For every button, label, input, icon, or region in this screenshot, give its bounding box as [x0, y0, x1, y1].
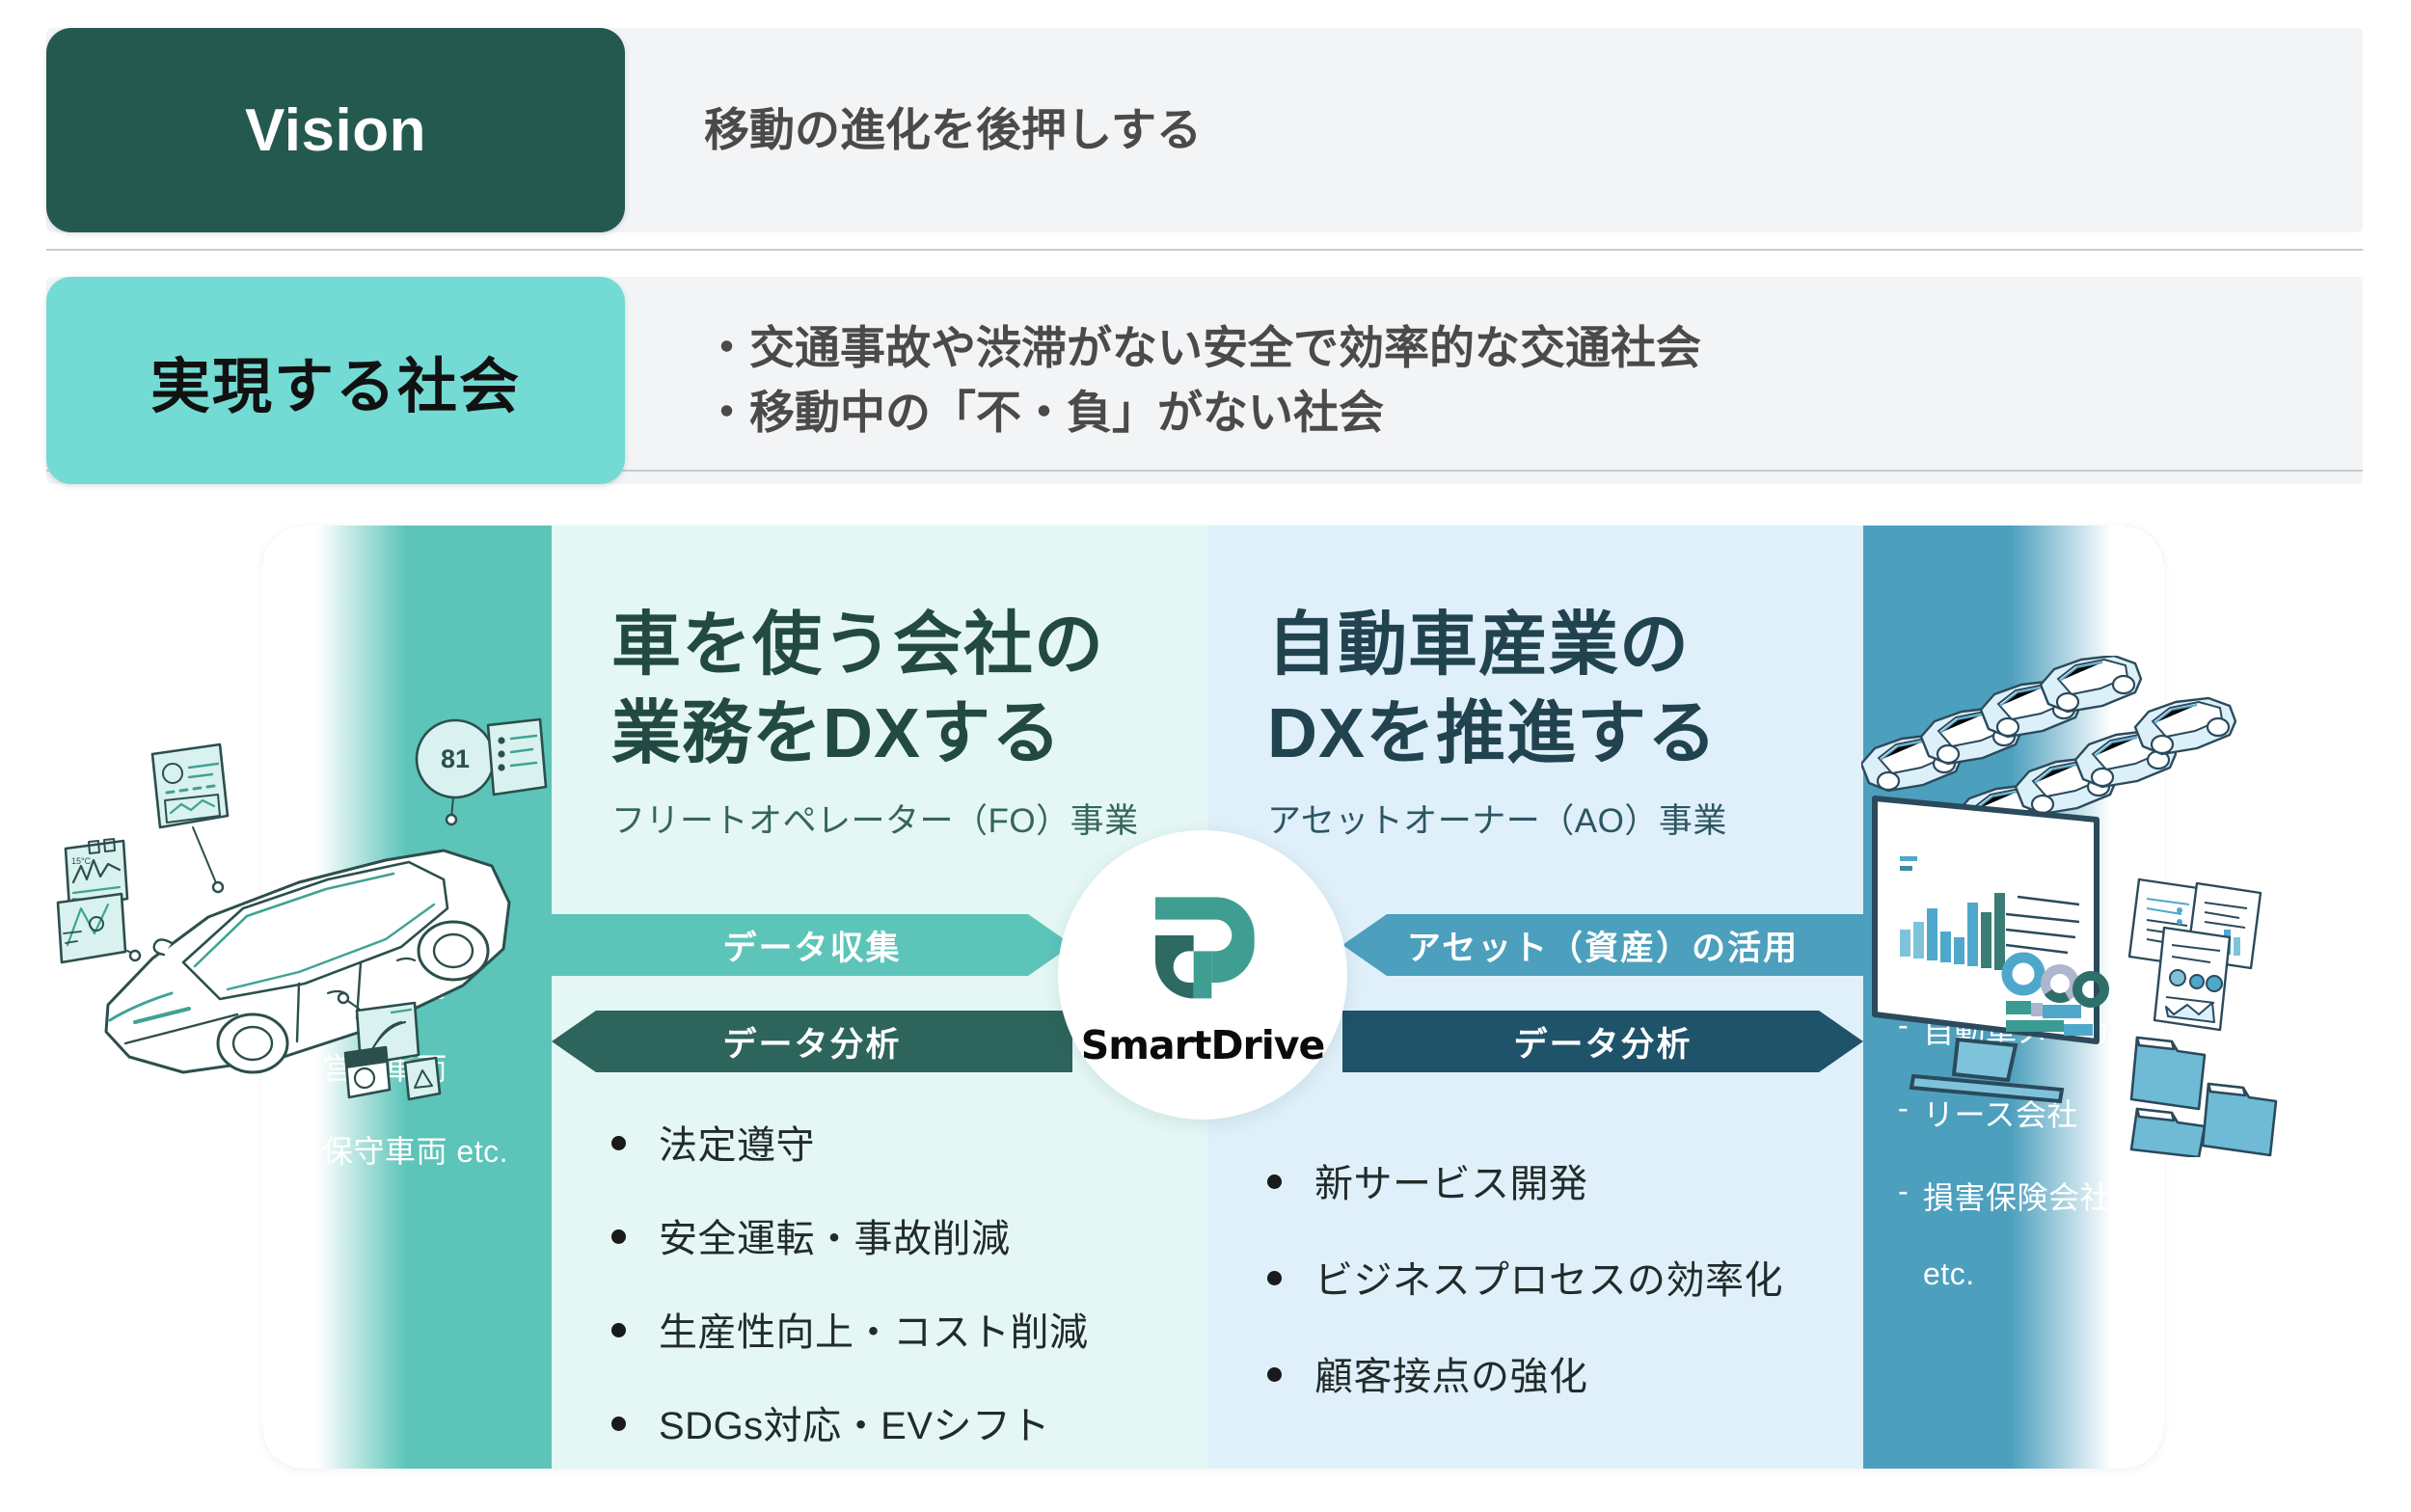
- dash-marker: -: [297, 961, 322, 1006]
- fo-customer-list: - 配送車両 - 営業車両 - 保守車両 etc.: [297, 961, 508, 1210]
- fo-customer-2: 保守車両 etc.: [322, 1127, 508, 1172]
- bullet-dot-icon: [1267, 1174, 1282, 1189]
- list-item: 新サービス開発: [1267, 1152, 1783, 1208]
- smartdrive-logo-icon: [1135, 881, 1270, 1016]
- dash-marker: -: [1898, 1091, 1923, 1135]
- svg-text:15°C: 15°C: [71, 856, 92, 866]
- smartdrive-wordmark: SmartDrive: [1081, 1022, 1325, 1068]
- ao-customer-etc: etc.: [1923, 1256, 1975, 1292]
- arrow-data-collection: データ収集: [552, 914, 1072, 976]
- vision-line-1: 移動の進化を後押しする: [704, 98, 1202, 163]
- fleet-operator-customers-column: - 配送車両 - 営業車両 - 保守車両 etc.: [262, 526, 552, 1469]
- bullet-dot-icon: [611, 1136, 626, 1150]
- ao-customer-2: 損害保険会社: [1923, 1174, 2111, 1218]
- vision-chip: Vision: [46, 28, 625, 232]
- ao-title-line-1: 自動車産業の: [1267, 607, 1690, 684]
- society-text-body: ・交通事故や渋滞がない安全で効率的な交通社会 ・移動中の「不・負」がない社会: [625, 277, 1701, 484]
- society-line-1: ・交通事故や渋滞がない安全で効率的な交通社会: [704, 316, 1701, 381]
- bullet-dot-icon: [611, 1229, 626, 1244]
- arrow-data-analysis-fo: データ分析: [552, 1011, 1072, 1072]
- header-divider-1: [46, 249, 2363, 251]
- ao-title: 自動車産業の DXを推進する: [1267, 601, 1863, 778]
- list-item: ビジネスプロセスの効率化: [1267, 1249, 1783, 1305]
- list-item: SDGs対応・EVシフト: [611, 1394, 1089, 1450]
- dash-marker: -: [297, 1127, 322, 1172]
- fo-customer-0: 配送車両: [322, 961, 447, 1006]
- list-item: 法定遵守: [611, 1114, 1089, 1170]
- arrow-data-analysis-ao-label: データ分析: [1342, 1017, 1863, 1066]
- fo-heading-block: 車を使う会社の 業務をDXする フリートオペレーター（FO）事業: [552, 526, 1207, 843]
- list-item: - リース会社: [1898, 1091, 2143, 1135]
- society-line-2: ・移動中の「不・負」がない社会: [704, 381, 1701, 445]
- fo-title-line-1: 車を使う会社の: [611, 607, 1104, 684]
- list-item: 生産性向上・コスト削減: [611, 1301, 1089, 1357]
- list-item: etc.: [1898, 1256, 2143, 1292]
- dash-marker: -: [1898, 1174, 1923, 1218]
- ao-bullet-0: 新サービス開発: [1314, 1152, 1588, 1208]
- fo-benefit-list: 法定遵守 安全運転・事故削減 生産性向上・コスト削減 SDGs対応・EVシフト: [611, 1114, 1089, 1469]
- ao-title-line-2: DXを推進する: [1267, 695, 1718, 772]
- ao-customer-0: 自動車メーカー: [1923, 1008, 2143, 1052]
- fo-customer-1: 営業車両: [322, 1044, 447, 1089]
- society-chip: 実現する社会: [46, 277, 625, 484]
- dash-marker: -: [1898, 1008, 1923, 1052]
- ao-customer-list: - 自動車メーカー - リース会社 - 損害保険会社 etc.: [1898, 1008, 2143, 1331]
- header-row-society: 実現する社会 ・交通事故や渋滞がない安全で効率的な交通社会 ・移動中の「不・負」…: [0, 277, 2411, 484]
- list-item: - 配送車両: [297, 961, 508, 1006]
- header-section: Vision 移動の進化を後押しする 実現する社会 ・交通事故や渋滞がない安全で…: [0, 0, 2411, 484]
- bullet-dot-icon: [611, 1323, 626, 1337]
- list-item: 安全運転・事故削減: [611, 1207, 1089, 1263]
- arrow-asset-utilization-label: アセット（資産）の活用: [1342, 921, 1863, 970]
- arrow-data-analysis-ao: データ分析: [1342, 1011, 1863, 1072]
- card-driver-profile: [152, 744, 228, 827]
- list-item: - 損害保険会社: [1898, 1174, 2143, 1218]
- ao-customer-1: リース会社: [1923, 1091, 2078, 1135]
- card-trip-chart: 15°C ETA: [66, 839, 127, 908]
- ao-bullet-2: 顧客接点の強化: [1314, 1345, 1588, 1401]
- svg-text:ETA: ETA: [71, 897, 88, 906]
- fo-bullet-1: 安全運転・事故削減: [659, 1207, 1011, 1263]
- ao-heading-block: 自動車産業の DXを推進する アセットオーナー（AO）事業: [1207, 526, 1863, 843]
- ao-subtitle: アセットオーナー（AO）事業: [1267, 794, 1863, 843]
- arrow-data-analysis-fo-label: データ分析: [552, 1017, 1072, 1066]
- list-item: - 保守車両 etc.: [297, 1127, 508, 1172]
- bullet-dot-icon: [1267, 1367, 1282, 1382]
- bullet-dot-icon: [611, 1417, 626, 1431]
- fo-subtitle: フリートオペレーター（FO）事業: [611, 794, 1207, 843]
- vision-text-body: 移動の進化を後押しする: [625, 28, 1202, 232]
- ao-benefit-list: 新サービス開発 ビジネスプロセスの効率化 顧客接点の強化: [1267, 1152, 1783, 1442]
- list-item: - 自動車メーカー: [1898, 1008, 2143, 1052]
- card-map: [58, 894, 125, 962]
- smartdrive-logo-badge: SmartDrive: [1058, 830, 1347, 1120]
- fo-bullet-0: 法定遵守: [659, 1114, 815, 1170]
- asset-owner-customers-column: - 自動車メーカー - リース会社 - 損害保険会社 etc.: [1863, 526, 2164, 1469]
- ao-bullet-1: ビジネスプロセスの効率化: [1314, 1249, 1783, 1305]
- arrow-data-collection-label: データ収集: [552, 921, 1072, 970]
- fo-bullet-3: SDGs対応・EVシフト: [659, 1394, 1050, 1450]
- arrow-asset-utilization: アセット（資産）の活用: [1342, 914, 1863, 976]
- bullet-dot-icon: [1267, 1271, 1282, 1285]
- dash-marker: -: [297, 1044, 322, 1089]
- list-item: 顧客接点の強化: [1267, 1345, 1783, 1401]
- list-item: - 営業車両: [297, 1044, 508, 1089]
- fo-title: 車を使う会社の 業務をDXする: [611, 601, 1207, 778]
- fo-title-line-2: 業務をDXする: [611, 695, 1062, 772]
- header-row-vision: Vision 移動の進化を後押しする: [0, 28, 2411, 232]
- fo-bullet-2: 生産性向上・コスト削減: [659, 1301, 1089, 1357]
